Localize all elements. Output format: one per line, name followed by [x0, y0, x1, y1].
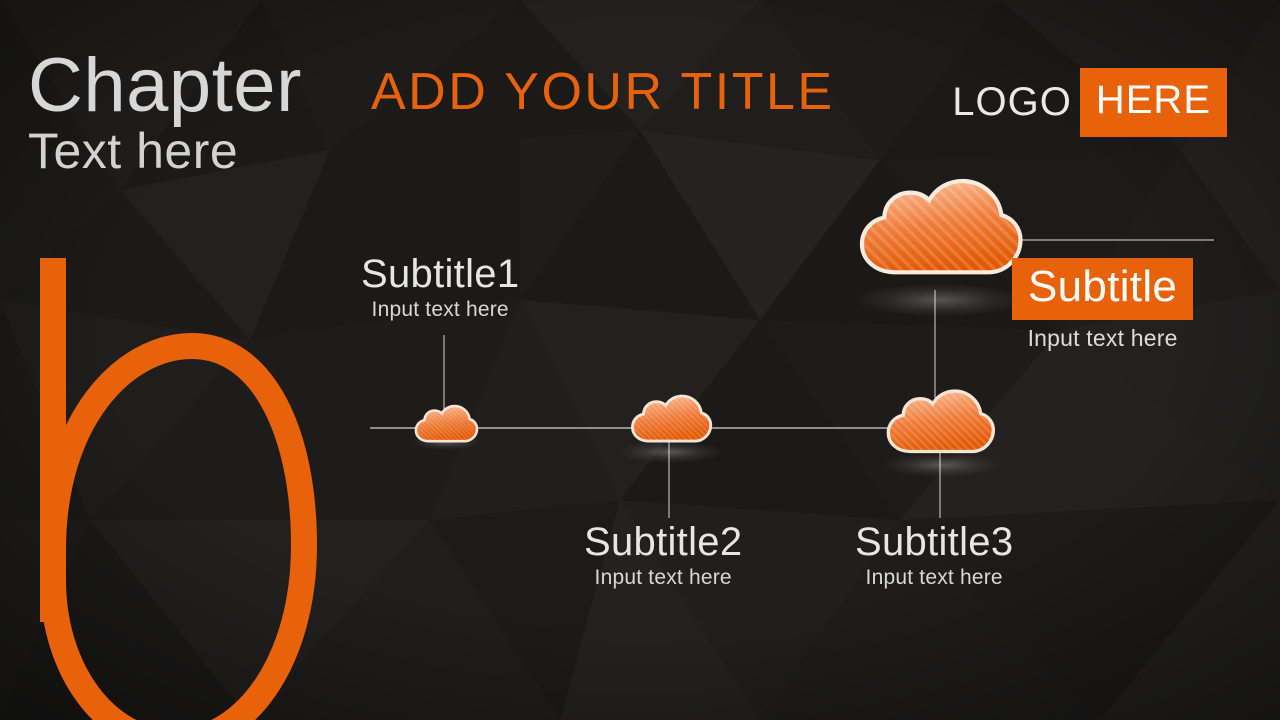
cloud-icon-node-1[interactable]	[412, 406, 480, 450]
cloud-icon-node-3[interactable]	[883, 391, 999, 477]
node-3-body: Input text here	[855, 567, 1013, 589]
cloud-icon-node-2[interactable]	[619, 396, 723, 463]
node-label-subtitle1: Subtitle1 Input text here	[361, 253, 519, 321]
node-2-body: Input text here	[584, 567, 742, 589]
node-1-body: Input text here	[361, 299, 519, 321]
node-2-heading: Subtitle2	[584, 521, 742, 563]
slide-canvas: Chapter Text here ADD YOUR TITLE LOGO HE…	[0, 0, 1280, 720]
cloud-timeline-diagram	[0, 0, 1280, 720]
node-label-subtitle3: Subtitle3 Input text here	[855, 521, 1013, 589]
node-4-body: Input text here	[1012, 326, 1193, 350]
node-3-heading: Subtitle3	[855, 521, 1013, 563]
node-label-subtitle2: Subtitle2 Input text here	[584, 521, 742, 589]
node-4-heading-chip: Subtitle	[1012, 258, 1193, 320]
node-1-heading: Subtitle1	[361, 253, 519, 295]
node-label-subtitle-highlight: Subtitle Input text here	[1012, 258, 1193, 350]
cloud-icon-node-4[interactable]	[854, 181, 1026, 317]
